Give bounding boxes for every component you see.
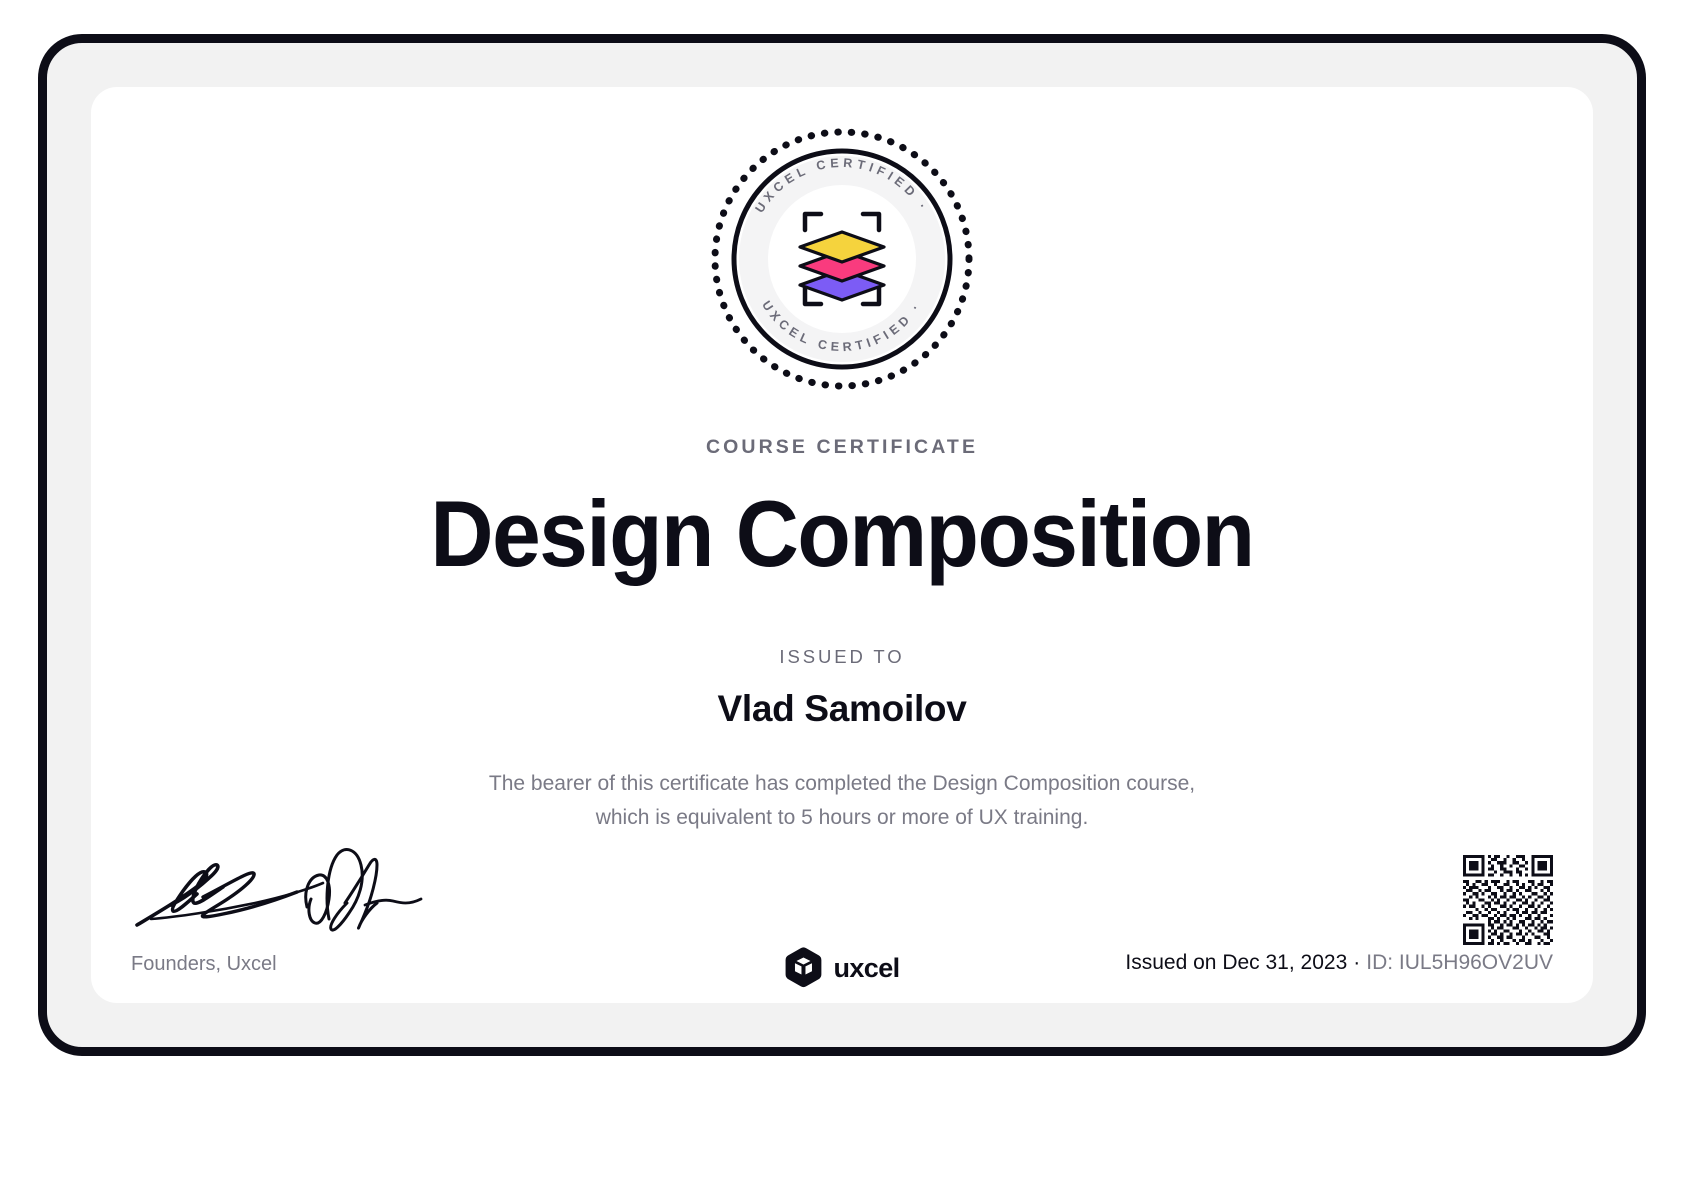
signature-one (137, 865, 323, 925)
course-certificate-label: COURSE CERTIFICATE (91, 436, 1593, 459)
issued-on-date: Issued on Dec 31, 2023 (1125, 951, 1347, 974)
course-title: Design Composition (144, 483, 1541, 585)
certification-badge: UXCEL CERTIFIED · UXCEL CERTIFIED · (708, 125, 976, 393)
uxcel-wordmark: uxcel (833, 953, 899, 984)
issue-info: Issued on Dec 31, 2023·ID: IUL5H96OV2UV (1125, 951, 1553, 975)
uxcel-hexagon-logo-icon (784, 947, 822, 989)
description-line-1: The bearer of this certificate has compl… (489, 772, 1195, 795)
layers-stack-icon (800, 232, 884, 300)
issue-separator: · (1347, 951, 1366, 974)
certificate-id: ID: IUL5H96OV2UV (1366, 951, 1553, 974)
certificate-frame: UXCEL CERTIFIED · UXCEL CERTIFIED · (38, 34, 1646, 1056)
description-line-2: which is equivalent to 5 hours or more o… (596, 806, 1089, 829)
recipient-name: Vlad Samoilov (91, 688, 1593, 730)
signature-two (306, 850, 421, 930)
certificate-description: The bearer of this certificate has compl… (432, 767, 1252, 835)
signature-caption: Founders, Uxcel (131, 953, 277, 976)
uxcel-brand-logo: uxcel (784, 947, 899, 989)
issued-to-label: ISSUED TO (91, 646, 1593, 668)
certificate-card: UXCEL CERTIFIED · UXCEL CERTIFIED · (91, 87, 1593, 1003)
founder-signatures (131, 847, 461, 967)
verification-qr-code[interactable] (1463, 855, 1553, 945)
